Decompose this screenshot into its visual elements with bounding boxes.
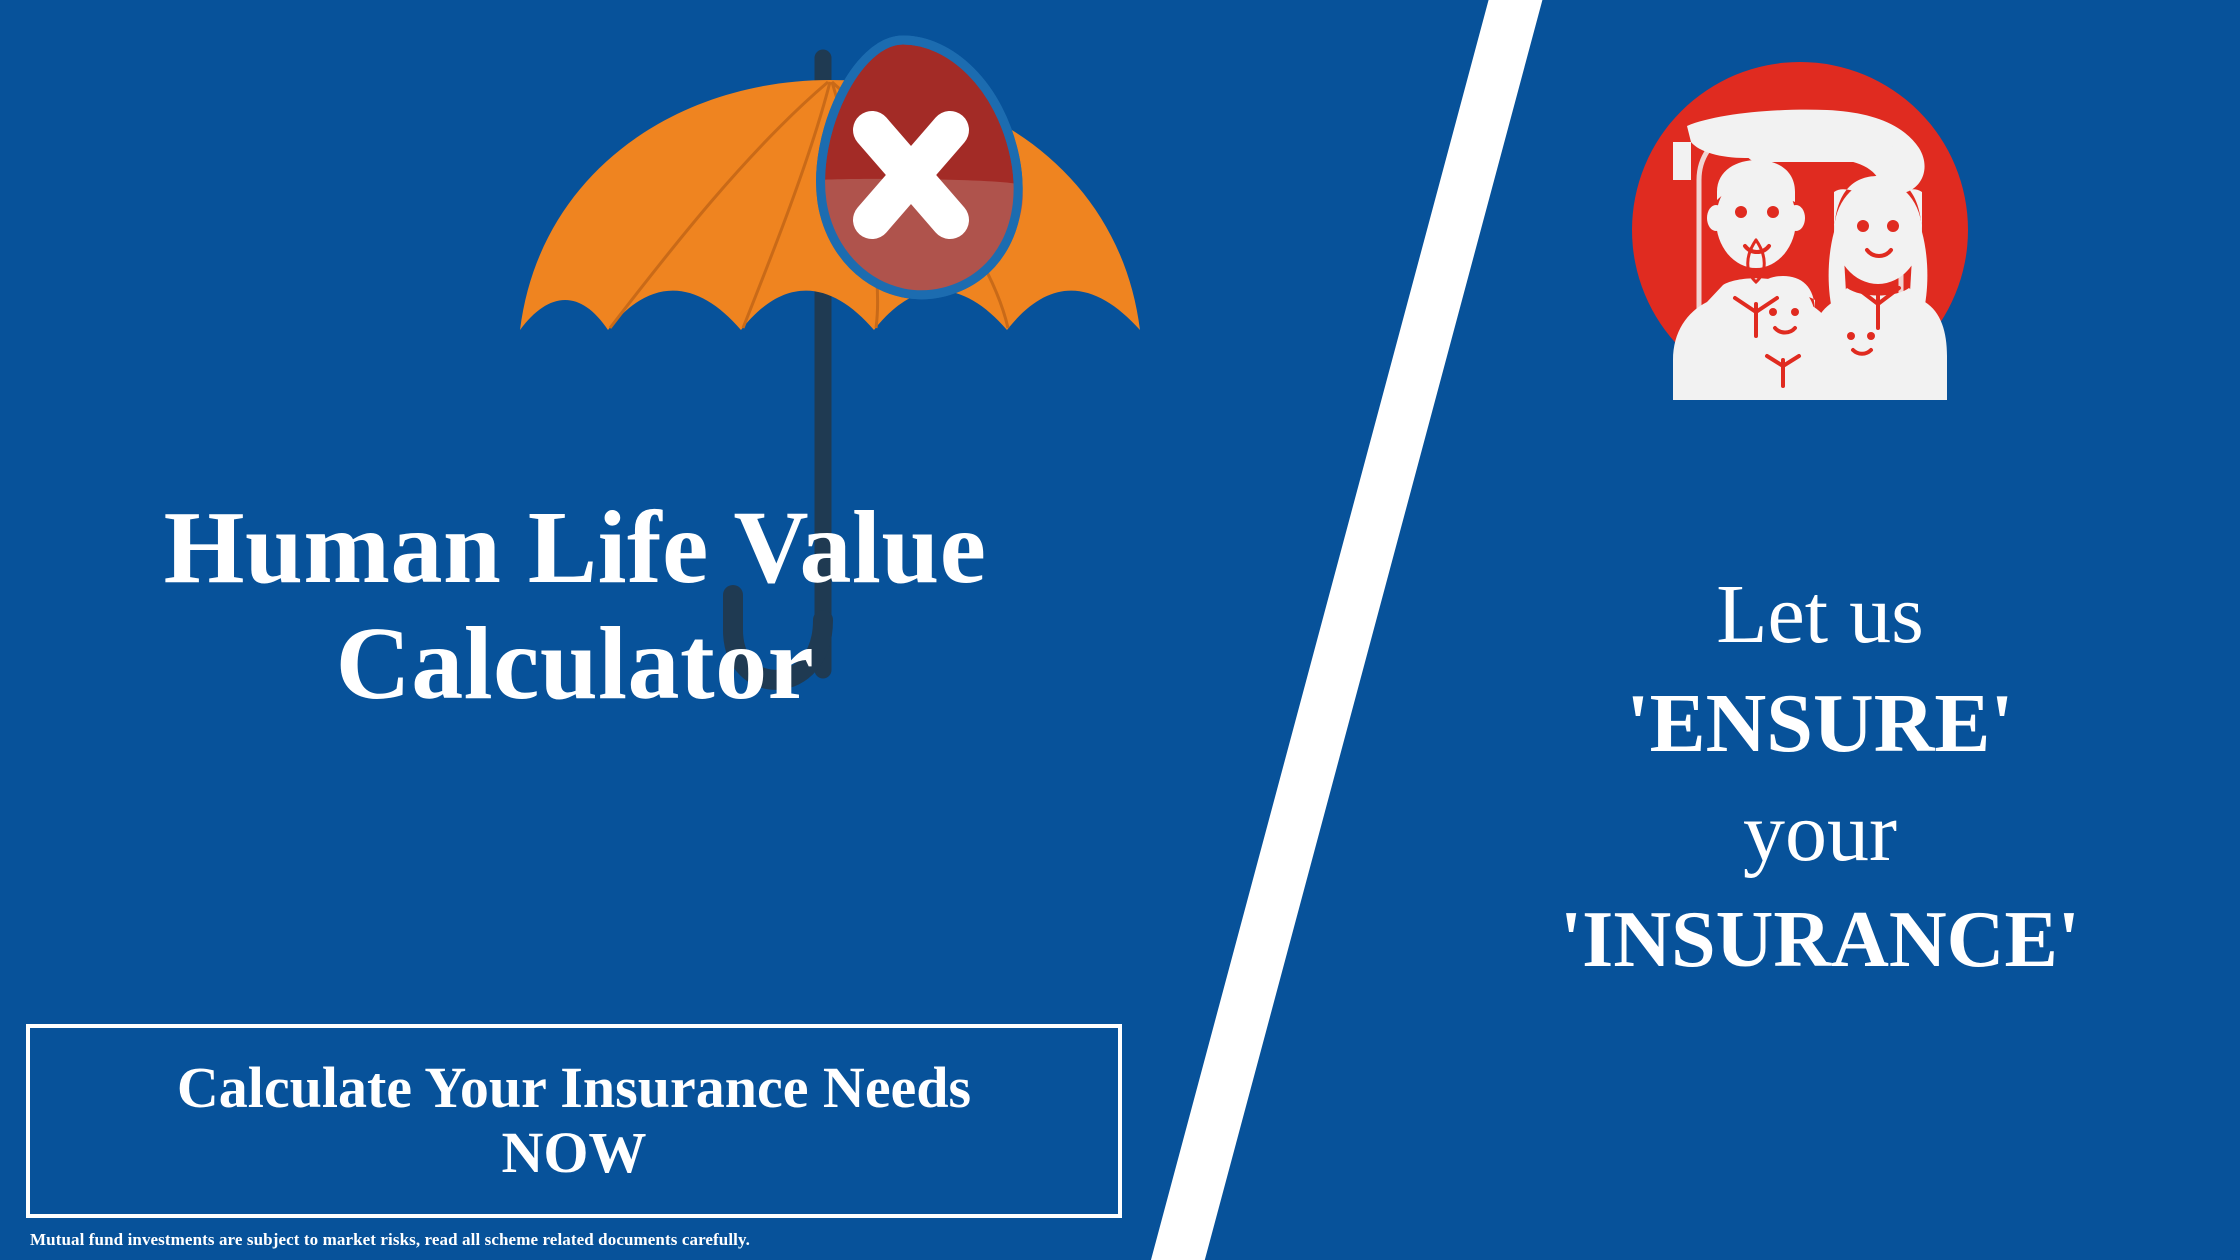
family-protection-icon (1595, 60, 2005, 400)
slogan-block: Let us 'ENSURE' your 'INSURANCE' (1440, 560, 2200, 992)
title-line-2: Calculator (0, 606, 1150, 722)
slogan-line-1: Let us (1440, 560, 2200, 669)
title-line-1: Human Life Value (0, 490, 1150, 606)
cta-line-1: Calculate Your Insurance Needs (177, 1055, 971, 1120)
calculate-insurance-cta-box[interactable]: Calculate Your Insurance Needs NOW (26, 1024, 1122, 1218)
slogan-line-3: your (1440, 778, 2200, 887)
poster-canvas: Human Life Value Calculator Calculate Yo… (0, 0, 2240, 1260)
shield-cross-icon (820, 40, 1023, 295)
slogan-line-2: 'ENSURE' (1440, 669, 2200, 778)
disclaimer-text: Mutual fund investments are subject to m… (30, 1230, 750, 1250)
slogan-line-4: 'INSURANCE' (1440, 888, 2200, 992)
cta-line-2: NOW (502, 1120, 647, 1185)
cta-text: Calculate Your Insurance Needs NOW (177, 1056, 971, 1186)
page-title: Human Life Value Calculator (0, 490, 1150, 723)
